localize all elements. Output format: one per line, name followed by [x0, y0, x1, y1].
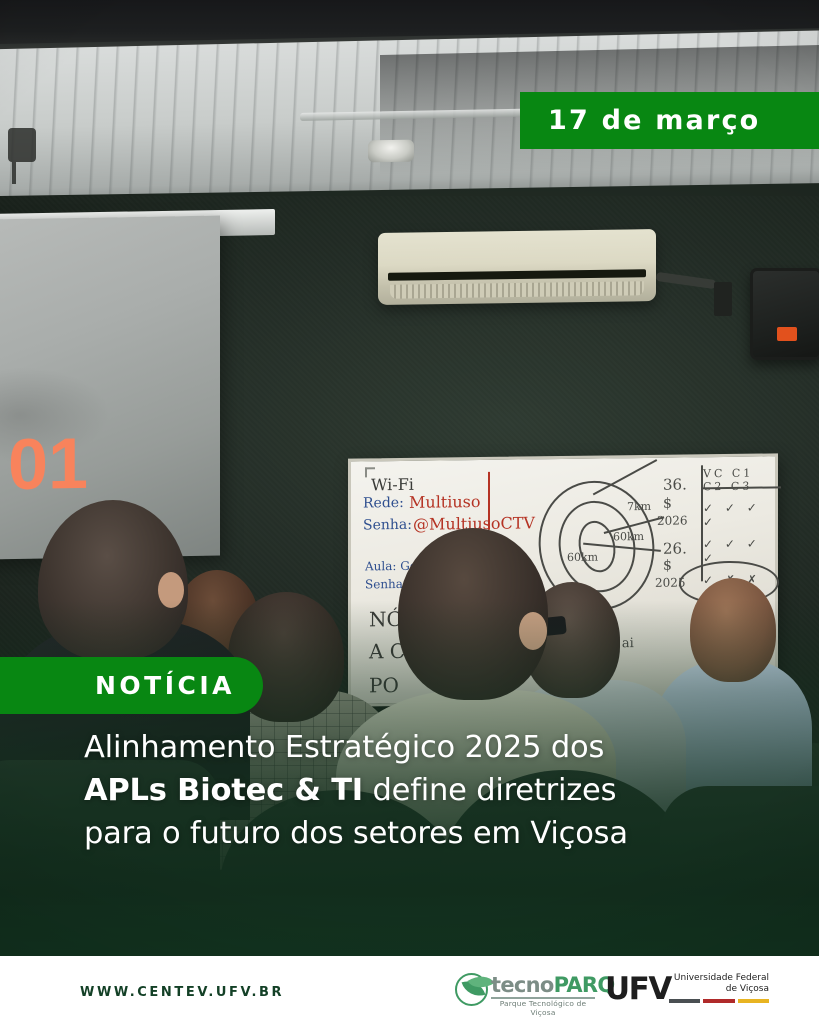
ufv-color-bars — [669, 999, 769, 1003]
tecnoparq-tagline: Parque Tecnológico de Viçosa — [491, 999, 595, 1017]
headline-line-3: para o futuro dos setores em Viçosa — [84, 812, 784, 855]
ufv-bar-red — [703, 999, 734, 1003]
headline-line-2: APLs Biotec & TI define diretrizes — [84, 769, 784, 812]
category-badge: NOTÍCIA — [0, 657, 263, 714]
category-badge-label: NOTÍCIA — [95, 671, 263, 700]
ufv-name-line-1: Universidade Federal — [669, 973, 769, 983]
headline: Alinhamento Estratégico 2025 dos APLs Bi… — [84, 726, 784, 855]
news-poster: ROS 01 01 tor y Wi-Fi Rede: Multiuso Sen… — [0, 0, 819, 1024]
headline-bold-phrase: APLs Biotec & TI — [84, 773, 363, 808]
ufv-bar-yellow — [738, 999, 769, 1003]
tecnoparq-word-light: tecno — [491, 973, 554, 997]
ufv-bar-gray — [669, 999, 700, 1003]
website-url[interactable]: WWW.CENTEV.UFV.BR — [80, 985, 284, 1000]
ufv-acronym: UFV — [605, 971, 671, 1007]
date-badge: 17 de março — [520, 92, 819, 149]
ufv-logo[interactable]: UFV Universidade Federal de Viçosa — [605, 969, 770, 1011]
tecnoparq-wordmark: tecnoPARQ — [491, 973, 615, 997]
ufv-name-line-2: de Viçosa — [669, 984, 769, 994]
tecnoparq-logo[interactable]: tecnoPARQ Parque Tecnológico de Viçosa — [455, 971, 595, 1011]
headline-line-1: Alinhamento Estratégico 2025 dos — [84, 726, 784, 769]
headline-line-2-rest: define diretrizes — [363, 773, 616, 808]
date-badge-label: 17 de março — [520, 105, 760, 136]
